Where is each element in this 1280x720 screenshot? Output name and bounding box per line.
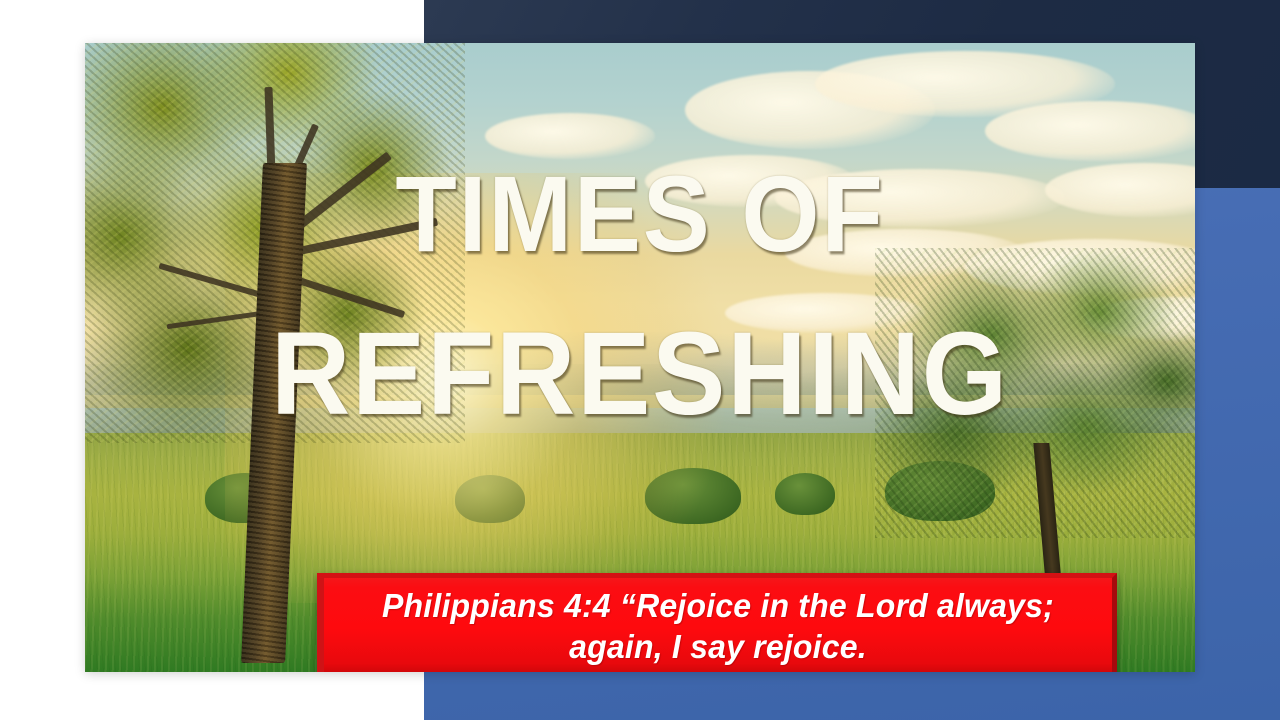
cloud	[485, 113, 655, 159]
cloud	[775, 169, 1065, 227]
shrub	[775, 473, 835, 515]
background-photo: TIMES OF REFRESHING Philippians 4:4 “Rej…	[85, 43, 1195, 672]
scripture-caption-box: Philippians 4:4 “Rejoice in the Lord alw…	[317, 573, 1117, 672]
tree-right-canopy	[875, 248, 1195, 538]
shrub	[455, 475, 525, 523]
shrub	[645, 468, 741, 524]
scripture-caption-text: Philippians 4:4 “Rejoice in the Lord alw…	[336, 586, 1100, 667]
presentation-slide: TIMES OF REFRESHING Philippians 4:4 “Rej…	[0, 0, 1280, 720]
